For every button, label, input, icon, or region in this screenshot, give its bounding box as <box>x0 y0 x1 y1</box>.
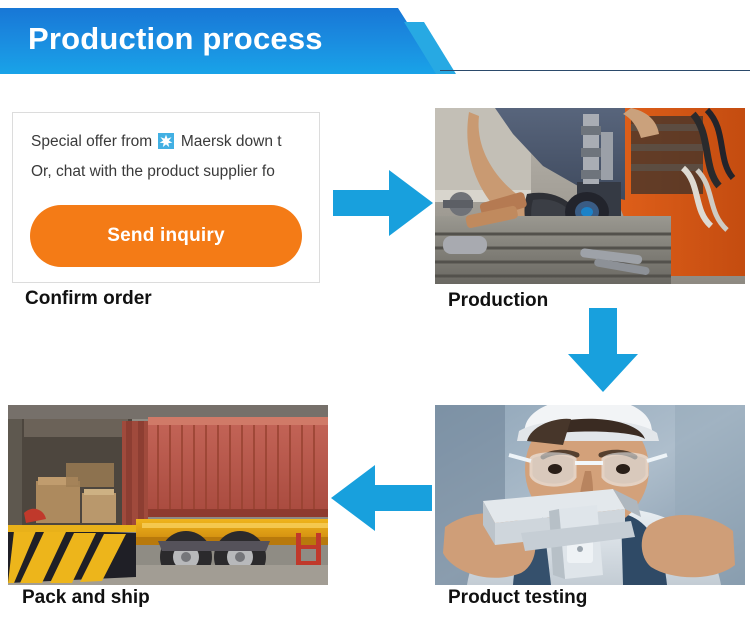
header-divider-rule <box>440 70 750 71</box>
pack-and-ship-photo <box>8 405 328 585</box>
special-offer-text-prefix: Special offer from <box>31 133 152 150</box>
send-inquiry-button[interactable]: Send inquiry <box>30 205 302 267</box>
page-title: Production process <box>28 8 323 74</box>
step-caption-pack-and-ship: Pack and ship <box>22 587 150 609</box>
inquiry-card: Special offer from Maersk down t Or, cha… <box>12 112 320 283</box>
maersk-logo-icon <box>158 133 174 149</box>
product-testing-photo-illustration <box>435 405 745 585</box>
arrow-left-icon <box>331 465 432 531</box>
step-production <box>435 108 745 284</box>
chat-supplier-text: Or, chat with the product supplier fo <box>31 163 275 181</box>
arrow-down-icon <box>568 308 638 392</box>
step-pack-and-ship <box>8 405 328 585</box>
step-caption-confirm-order: Confirm order <box>25 288 152 310</box>
step-product-testing <box>435 405 745 585</box>
step-caption-production: Production <box>448 290 548 312</box>
product-testing-photo <box>435 405 745 585</box>
page-header: Production process <box>0 8 750 74</box>
production-photo-illustration <box>435 108 745 284</box>
step-caption-product-testing: Product testing <box>448 587 587 609</box>
pack-and-ship-photo-illustration <box>8 405 328 585</box>
production-photo <box>435 108 745 284</box>
arrow-right-icon <box>333 170 433 236</box>
step-confirm-order: Special offer from Maersk down t Or, cha… <box>12 112 320 283</box>
special-offer-text-suffix: Maersk down t <box>181 133 282 150</box>
special-offer-text: Special offer from Maersk down t <box>31 133 282 151</box>
